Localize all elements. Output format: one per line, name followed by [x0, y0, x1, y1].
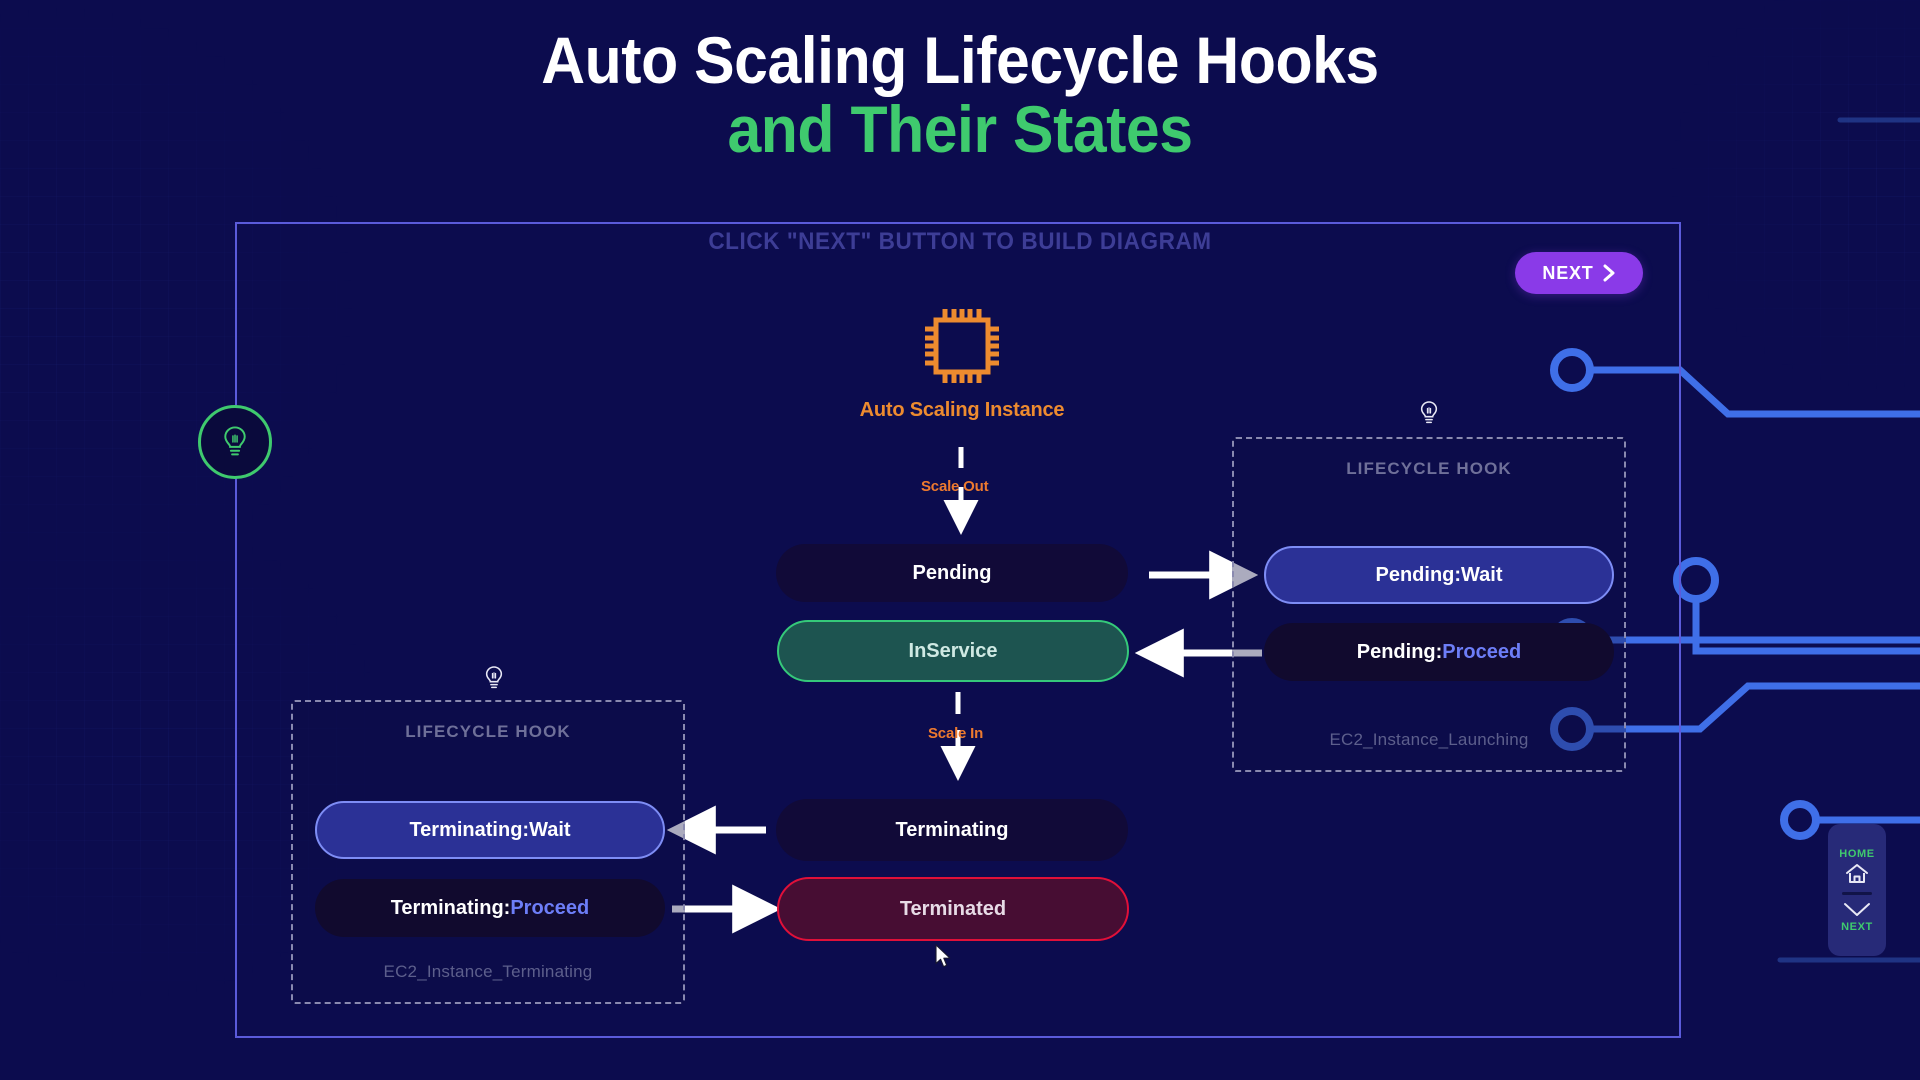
next-button-label: NEXT: [1542, 263, 1593, 284]
edge-label-scale-in: Scale In: [928, 725, 983, 742]
auto-scaling-instance-node[interactable]: Auto Scaling Instance: [842, 300, 1082, 422]
state-inservice[interactable]: InService: [777, 620, 1129, 682]
chevron-right-icon: [1603, 264, 1616, 282]
lifecycle-hook-terminating-title: LIFECYCLE HOOK: [293, 722, 683, 742]
lightbulb-icon: [220, 425, 250, 459]
next-button[interactable]: NEXT: [1515, 252, 1643, 294]
edge-label-scale-out: Scale Out: [921, 478, 988, 495]
state-terminating-proceed-prefix: Terminating:: [391, 897, 511, 920]
cpu-chip-icon: [842, 300, 1082, 392]
state-terminating-wait[interactable]: Terminating:Wait: [315, 801, 665, 859]
lifecycle-hook-launching-footer: EC2_Instance_Launching: [1234, 730, 1624, 750]
page-title-line-2: and Their States: [77, 95, 1843, 164]
diagram-canvas: Auto Scaling Lifecycle Hooks and Their S…: [0, 0, 1920, 1080]
state-pending-wait[interactable]: Pending:Wait: [1264, 546, 1614, 604]
lifecycle-hook-terminating-bulb[interactable]: [483, 665, 505, 696]
auto-scaling-instance-label: Auto Scaling Instance: [842, 399, 1082, 422]
state-pending-proceed-suffix: Proceed: [1442, 641, 1521, 664]
state-pending-proceed-prefix: Pending:: [1357, 641, 1443, 664]
page-title-line-1: Auto Scaling Lifecycle Hooks: [77, 26, 1843, 95]
state-inservice-label: InService: [909, 640, 998, 663]
page-title: Auto Scaling Lifecycle Hooks and Their S…: [0, 26, 1920, 165]
home-icon[interactable]: [1844, 862, 1870, 886]
state-pending-label: Pending: [913, 562, 992, 585]
state-pending-wait-label: Pending:Wait: [1375, 564, 1502, 587]
lifecycle-hook-terminating-footer: EC2_Instance_Terminating: [293, 962, 683, 982]
state-terminating-proceed[interactable]: Terminating:Proceed: [315, 879, 665, 937]
lifecycle-hook-launching: LIFECYCLE HOOK EC2_Instance_Launching: [1232, 437, 1626, 772]
side-navigation-widget[interactable]: HOME NEXT: [1828, 824, 1886, 956]
state-terminating-label: Terminating: [896, 819, 1009, 842]
lightbulb-icon: [1418, 400, 1440, 426]
state-terminating-proceed-suffix: Proceed: [510, 897, 589, 920]
state-terminated-label: Terminated: [900, 898, 1006, 921]
state-pending-proceed[interactable]: Pending:Proceed: [1264, 623, 1614, 681]
state-pending[interactable]: Pending: [776, 544, 1128, 602]
lifecycle-hook-launching-bulb[interactable]: [1418, 400, 1440, 431]
sidenav-divider: [1842, 892, 1872, 895]
lightbulb-icon: [483, 665, 505, 691]
state-terminating[interactable]: Terminating: [776, 799, 1128, 861]
state-terminated[interactable]: Terminated: [777, 877, 1129, 941]
sidenav-home-label: HOME: [1839, 848, 1874, 860]
chevron-down-icon[interactable]: [1842, 901, 1872, 919]
lifecycle-hook-launching-title: LIFECYCLE HOOK: [1234, 459, 1624, 479]
sidenav-next-label: NEXT: [1841, 921, 1873, 933]
state-terminating-wait-label: Terminating:Wait: [409, 819, 570, 842]
tip-bulb-button[interactable]: [198, 405, 272, 479]
